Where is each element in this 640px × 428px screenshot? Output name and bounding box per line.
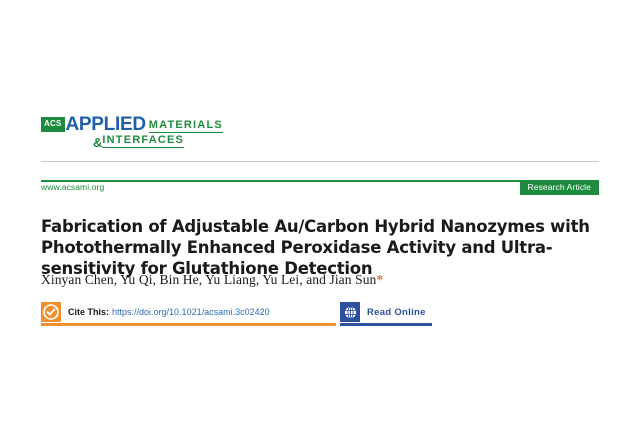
status-badge-article-type: Research Article [520,180,600,195]
doi-link[interactable]: https://doi.org/10.1021/acsami.3c02420 [112,307,270,317]
journal-logo-applied: APPLIED [66,116,146,134]
page-title: Fabrication of Adjustable Au/Carbon Hybr… [41,216,603,279]
read-online-bar[interactable]: Read Online [340,301,432,326]
cite-this-label: Cite This: [68,307,109,317]
check-circle-icon [41,302,61,322]
corresponding-author-marker: * [376,272,383,287]
author-names: Xinyan Chen, Yu Qi, Bin He, Yu Liang, Yu… [41,272,376,287]
read-online-label[interactable]: Read Online [367,307,426,318]
journal-logo-line-1: ACS APPLIED MATERIALS [41,116,223,134]
globe-icon [340,302,360,322]
header-divider-gray [41,161,599,162]
cite-this-bar[interactable]: Cite This: https://doi.org/10.1021/acsam… [41,301,336,326]
author-list: Xinyan Chen, Yu Qi, Bin He, Yu Liang, Yu… [41,272,603,288]
journal-logo-materials: MATERIALS [149,120,223,133]
journal-url[interactable]: www.acsami.org [41,182,104,192]
journal-logo: ACS APPLIED MATERIALS & INTERFACES [41,116,223,150]
header-divider-green [41,180,599,182]
ampersand-glyph: & [93,136,102,149]
journal-logo-line-2: & INTERFACES [93,135,184,148]
article-header-page: ACS APPLIED MATERIALS & INTERFACES www.a… [0,0,640,428]
journal-logo-interfaces: INTERFACES [102,135,184,148]
acs-badge: ACS [41,117,65,132]
